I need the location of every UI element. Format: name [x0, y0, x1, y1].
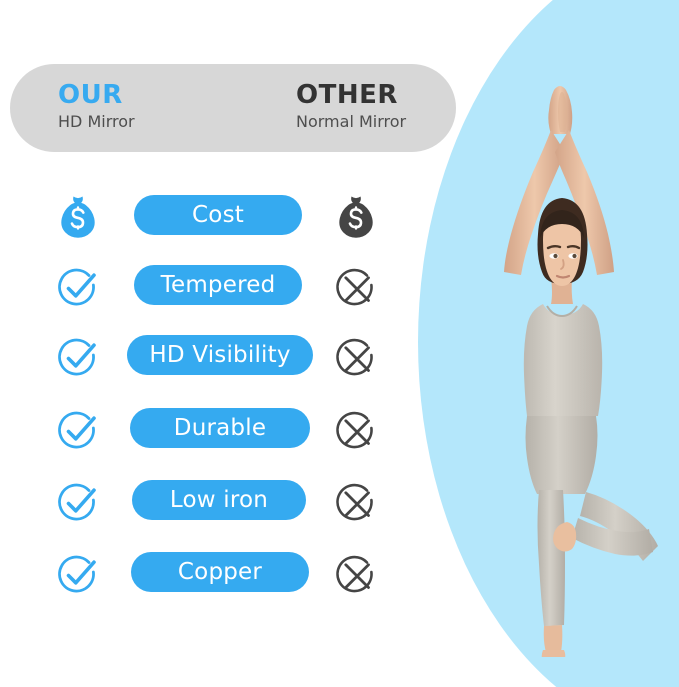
other-x-circle-icon — [330, 477, 382, 529]
feature-pill[interactable]: Low iron — [132, 480, 306, 520]
comparison-row: HD Visibility — [0, 332, 430, 388]
other-x-circle-icon — [330, 262, 382, 314]
ours-check-circle-icon — [52, 262, 104, 314]
comparison-row: Durable — [0, 405, 430, 461]
feature-pill-label: Tempered — [161, 272, 276, 298]
yoga-model-photo — [455, 82, 670, 657]
comparison-row: Copper — [0, 549, 430, 605]
ours-money-bag-icon — [52, 192, 104, 244]
feature-pill-label: Copper — [178, 559, 262, 585]
ours-check-circle-icon — [52, 405, 104, 457]
feature-pill[interactable]: HD Visibility — [127, 335, 313, 375]
comparison-row: Cost — [0, 192, 430, 248]
ours-check-circle-icon — [52, 549, 104, 601]
comparison-row: Low iron — [0, 477, 430, 533]
ours-check-circle-icon — [52, 477, 104, 529]
infographic-canvas: OUR HD Mirror OTHER Normal Mirror CostTe… — [0, 0, 679, 687]
feature-pill[interactable]: Cost — [134, 195, 302, 235]
feature-pill-label: Cost — [192, 202, 244, 228]
other-x-circle-icon — [330, 405, 382, 457]
feature-pill[interactable]: Tempered — [134, 265, 302, 305]
feature-pill[interactable]: Copper — [131, 552, 309, 592]
other-money-bag-icon — [330, 192, 382, 244]
feature-pill[interactable]: Durable — [130, 408, 310, 448]
comparison-row: Tempered — [0, 262, 430, 318]
comparison-rows: CostTemperedHD VisibilityDurableLow iron… — [0, 0, 430, 687]
feature-pill-label: Durable — [174, 415, 266, 441]
other-x-circle-icon — [330, 549, 382, 601]
other-x-circle-icon — [330, 332, 382, 384]
ours-check-circle-icon — [52, 332, 104, 384]
feature-pill-label: Low iron — [170, 487, 268, 513]
feature-pill-label: HD Visibility — [149, 342, 290, 368]
